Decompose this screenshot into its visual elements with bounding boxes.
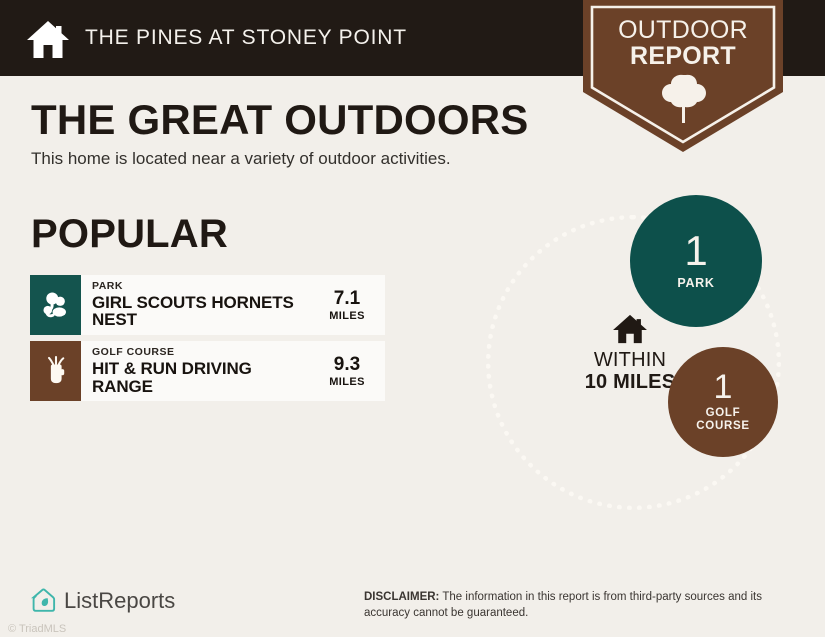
- distance-value: 7.1: [334, 289, 360, 308]
- listreports-house-icon: [30, 587, 57, 614]
- listreports-logo-text: ListReports: [64, 588, 175, 614]
- outdoor-report-page: THE PINES AT STONEY POINT OUTDOOR REPORT…: [0, 0, 825, 637]
- list-item[interactable]: PARK GIRL SCOUTS HORNETS NEST 7.1 MILES: [30, 275, 385, 335]
- stat-circle-golf-course[interactable]: 1 GOLF COURSE: [668, 347, 778, 457]
- list-item-name: HIT & RUN DRIVING RANGE: [92, 360, 311, 396]
- list-item-text: GOLF COURSE HIT & RUN DRIVING RANGE: [81, 341, 315, 401]
- page-subtitle: This home is located near a variety of o…: [31, 149, 451, 169]
- listreports-logo[interactable]: ListReports: [30, 587, 175, 614]
- list-item-category: PARK: [92, 281, 311, 293]
- list-item-category: GOLF COURSE: [92, 347, 311, 359]
- outdoor-report-badge: OUTDOOR REPORT: [583, 0, 783, 152]
- golf-bag-icon: [30, 341, 81, 401]
- disclaimer-label: DISCLAIMER:: [364, 591, 439, 603]
- list-item-distance: 7.1 MILES: [315, 275, 385, 335]
- list-item-name: GIRL SCOUTS HORNETS NEST: [92, 294, 311, 330]
- list-item-text: PARK GIRL SCOUTS HORNETS NEST: [81, 275, 315, 335]
- distance-unit: MILES: [329, 376, 365, 388]
- stat-circle-park[interactable]: 1 PARK: [630, 195, 762, 327]
- golf-count: 1: [714, 371, 733, 403]
- park-count: 1: [684, 231, 707, 271]
- property-title: THE PINES AT STONEY POINT: [85, 26, 407, 50]
- copyright-text: © TriadMLS: [8, 623, 66, 635]
- distance-unit: MILES: [329, 310, 365, 322]
- golf-label-line-2: COURSE: [696, 420, 749, 432]
- distance-value: 9.3: [334, 355, 360, 374]
- within-radius-graphic: WITHIN 10 MILES 1 PARK 1 GOLF COURSE: [440, 195, 825, 525]
- park-label: PARK: [677, 276, 714, 290]
- golf-label: GOLF COURSE: [696, 407, 749, 433]
- home-icon: [26, 18, 68, 58]
- park-trees-icon: [30, 275, 81, 335]
- golf-label-line-1: GOLF: [706, 407, 741, 419]
- list-item[interactable]: GOLF COURSE HIT & RUN DRIVING RANGE 9.3 …: [30, 341, 385, 401]
- popular-list: PARK GIRL SCOUTS HORNETS NEST 7.1 MILES …: [30, 275, 385, 407]
- page-title: THE GREAT OUTDOORS: [31, 96, 529, 144]
- list-item-distance: 9.3 MILES: [315, 341, 385, 401]
- section-title-popular: POPULAR: [31, 212, 228, 257]
- disclaimer: DISCLAIMER: The information in this repo…: [364, 590, 804, 621]
